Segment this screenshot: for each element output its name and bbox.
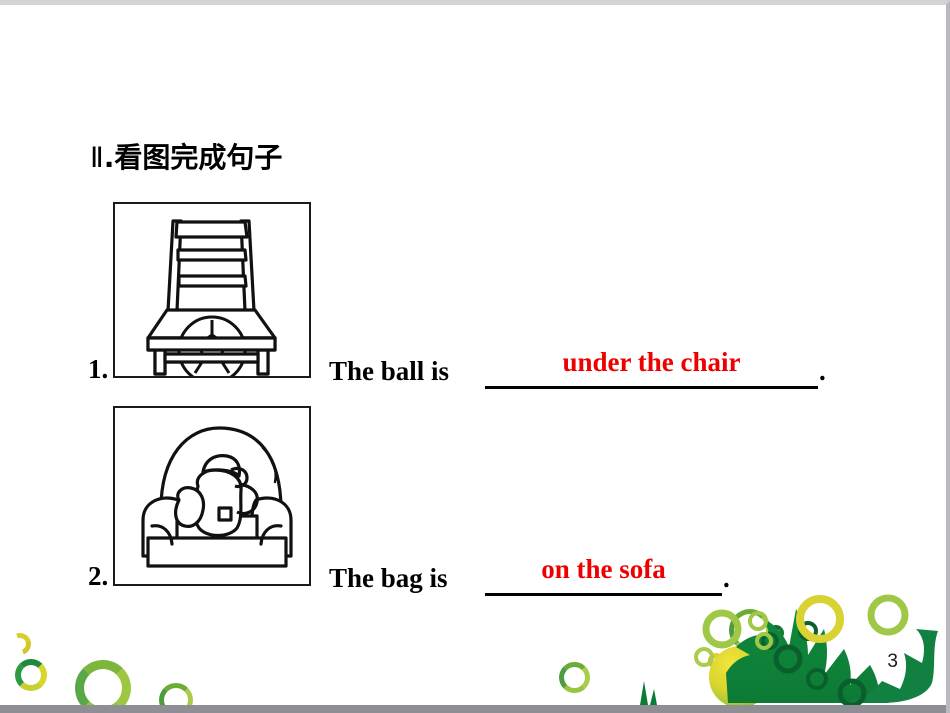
decor-ring-yellow-top <box>800 599 840 639</box>
answer-text-2: on the sofa <box>485 556 722 583</box>
decor-ring-small-green-yellow <box>15 659 47 691</box>
answer-blank-1[interactable]: under the chair <box>485 349 818 389</box>
decor-ring-arc-yellow <box>5 629 34 658</box>
answer-text-1: under the chair <box>485 349 818 376</box>
bottom-bar <box>0 705 950 713</box>
question-number-1: 1. <box>88 356 108 383</box>
decor-ring-green-left <box>706 613 738 645</box>
maple-leaf-decoration <box>692 585 950 705</box>
question-number-2: 2. <box>88 563 108 590</box>
slide-canvas: Ⅱ.看图完成句子 <box>0 0 950 713</box>
answer-rule-2 <box>485 593 722 596</box>
page-title: Ⅱ.看图完成句子 <box>90 136 282 176</box>
answer-rule-1 <box>485 386 818 389</box>
answer-blank-2[interactable]: on the sofa <box>485 556 722 596</box>
decor-grass-sprig-icon <box>630 679 670 705</box>
question-prompt-2: The bag is <box>329 563 448 594</box>
maple-leaf-icon <box>692 585 950 705</box>
decor-ring-mid-green-2 <box>559 662 590 693</box>
section-numeral: Ⅱ <box>90 143 104 174</box>
chair-with-ball-under-it-icon <box>115 204 309 376</box>
page-number: 3 <box>887 651 898 673</box>
decor-ring-green-left-4 <box>696 649 712 665</box>
picture-box-2 <box>113 406 311 586</box>
sentence-period-1: . <box>819 356 826 387</box>
sofa-with-bag-on-it-icon <box>115 408 309 584</box>
section-title-text: .看图完成句子 <box>104 141 283 174</box>
decor-ring-green-top <box>871 598 905 632</box>
question-prompt-1: The ball is <box>329 356 449 387</box>
decor-ring-green-left-2 <box>750 613 766 629</box>
picture-box-1 <box>113 202 311 378</box>
